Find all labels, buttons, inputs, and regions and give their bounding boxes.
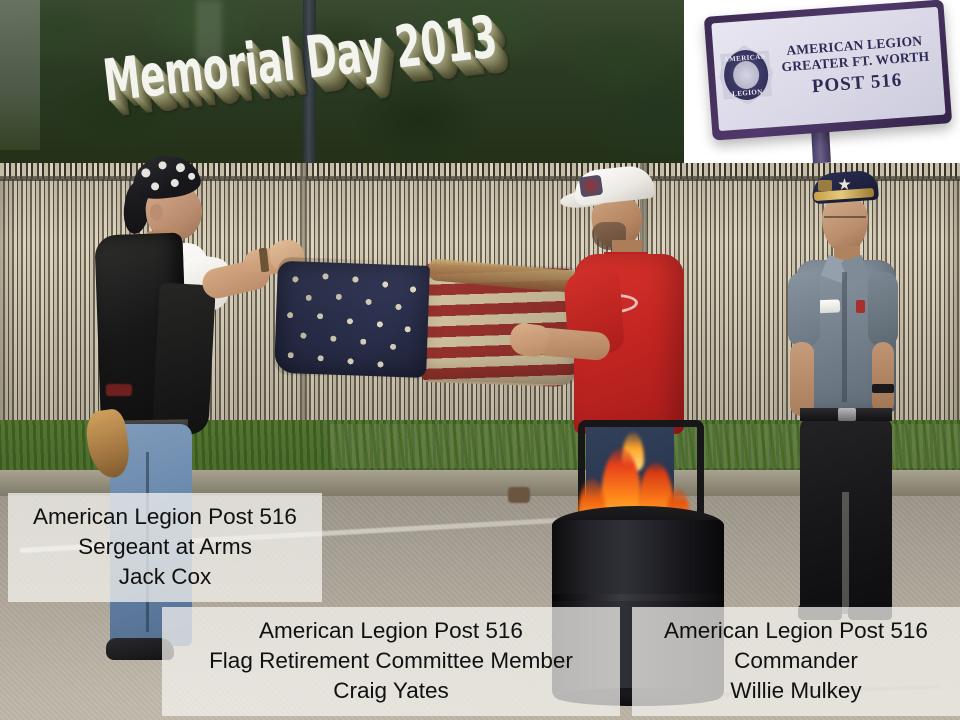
caption-line-2: Flag Retirement Committee Member (172, 646, 610, 676)
ground-debris (508, 487, 530, 503)
arm-right (872, 342, 894, 414)
caption-line-1: American Legion Post 516 (642, 616, 950, 646)
photo-canvas: Memorial Day 2013 AMERICAN LEGION AMERIC… (0, 0, 960, 720)
caption-line-1: American Legion Post 516 (172, 616, 610, 646)
caption-box-commander: American Legion Post 516 Commander Willi… (632, 607, 960, 716)
american-legion-emblem-icon: AMERICAN LEGION (717, 43, 775, 107)
bandana-dot (158, 161, 167, 170)
shirt-sleeve-right (868, 272, 898, 346)
caption-line-1: American Legion Post 516 (18, 502, 312, 532)
leather-vest-front (152, 283, 216, 436)
lapel-pin-icon (856, 300, 865, 313)
bandana-dot (188, 172, 196, 180)
sky-gap-left (0, 0, 40, 150)
face (822, 196, 868, 252)
caption-line-3: Craig Yates (172, 676, 610, 706)
wristwatch (872, 384, 894, 393)
barrel-ring (552, 594, 724, 601)
flag-shading (274, 257, 582, 386)
cap-logo-icon (579, 175, 604, 198)
bandana-dot (175, 163, 185, 173)
caption-box-committee-member: American Legion Post 516 Flag Retirement… (162, 607, 620, 716)
american-legion-sign: AMERICAN LEGION AMERICAN LEGION GREATER … (704, 0, 952, 141)
arm-left (790, 342, 814, 416)
bandana-dot (141, 168, 151, 178)
cap-emblem-icon (818, 180, 832, 191)
bandana-dot (170, 179, 179, 188)
shirt-placket (842, 272, 847, 402)
belt-buckle (838, 408, 856, 421)
bandana-dot (151, 182, 160, 191)
caption-line-3: Jack Cox (18, 562, 312, 592)
sign-face: AMERICAN LEGION AMERICAN LEGION GREATER … (711, 7, 945, 131)
glasses (824, 216, 866, 224)
ear (150, 204, 163, 221)
shirt-sleeve-left (788, 272, 820, 346)
sign-inset-panel: AMERICAN LEGION AMERICAN LEGION GREATER … (684, 0, 960, 163)
caption-line-3: Willie Mulkey (642, 676, 950, 706)
caption-line-2: Commander (642, 646, 950, 676)
american-flag (274, 257, 582, 386)
person-post-commander (786, 172, 906, 622)
leg-gap (842, 492, 849, 614)
sign-text-block: AMERICAN LEGION GREATER FT. WORTH POST 5… (776, 32, 938, 102)
caption-box-sergeant-at-arms: American Legion Post 516 Sergeant at Arm… (8, 493, 322, 602)
caption-line-2: Sergeant at Arms (18, 532, 312, 562)
vest-patch (106, 384, 132, 396)
